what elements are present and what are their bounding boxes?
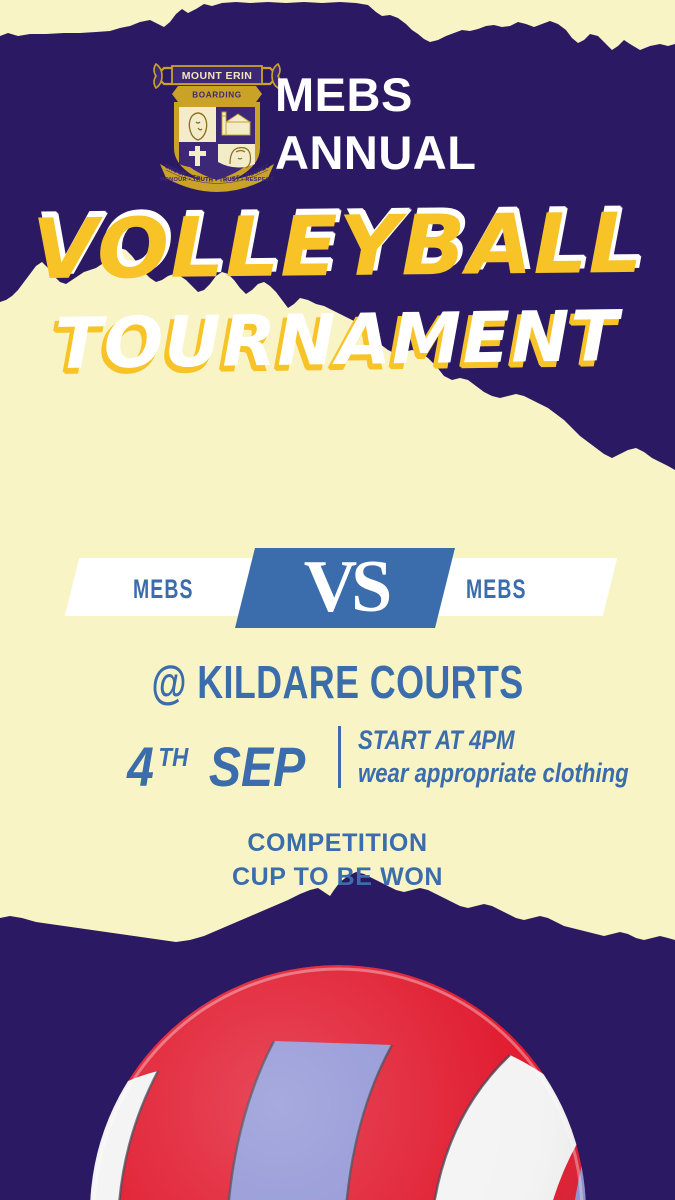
title-volleyball: VOLLEYBALL xyxy=(31,202,643,291)
venue-text: @ KILDARE COURTS xyxy=(151,655,523,709)
details-block: START AT 4PM wear appropriate clothing xyxy=(358,724,675,790)
detail-dresscode-line: wear appropriate clothing xyxy=(358,757,675,790)
event-date: 4THSEP xyxy=(125,722,313,802)
matchup-banner: MEBS VS MEBS xyxy=(0,548,675,628)
date-ordinal: TH xyxy=(159,722,189,792)
svg-text:MOUNT ERIN: MOUNT ERIN xyxy=(182,70,253,82)
detail-start-time: START AT 4PM xyxy=(358,724,515,757)
date-month: SEP xyxy=(209,732,305,802)
crest-motto-text: HONOUR • TRUTH • TRUST • RESPECT xyxy=(160,177,274,183)
vertical-divider xyxy=(338,726,341,788)
headline-block: MEBS ANNUAL xyxy=(275,66,635,182)
team-right-label: MEBS xyxy=(466,574,610,604)
title-main-wrap: VOLLEYBALL xyxy=(0,205,675,288)
volleyball-graphic xyxy=(88,963,588,1200)
title-tournament: TOURNAMENT xyxy=(55,301,621,379)
poster-canvas: MOUNT ERIN BOARDING xyxy=(0,0,675,1200)
school-crest-icon: MOUNT ERIN BOARDING xyxy=(152,52,282,192)
venue-line: @ KILDARE COURTS xyxy=(0,655,675,709)
volleyball-icon xyxy=(88,963,588,1200)
date-details-row: 4THSEP START AT 4PM wear appropriate clo… xyxy=(0,722,675,798)
vs-label: VS xyxy=(245,548,445,628)
svg-text:BOARDING: BOARDING xyxy=(192,91,241,100)
headline-line-1: MEBS xyxy=(275,66,635,124)
prize-block: COMPETITION CUP TO BE WON xyxy=(0,826,675,894)
date-day: 4 xyxy=(127,732,154,802)
detail-dresscode: wear appropriate clothing xyxy=(358,757,629,790)
detail-start-time-line: START AT 4PM xyxy=(358,724,675,757)
prize-line-1: COMPETITION xyxy=(0,826,675,860)
school-crest: MOUNT ERIN BOARDING xyxy=(152,52,282,192)
headline-line-2: ANNUAL xyxy=(275,124,635,182)
prize-line-2: CUP TO BE WON xyxy=(0,860,675,894)
title-sub-wrap: TOURNAMENT xyxy=(0,305,675,375)
